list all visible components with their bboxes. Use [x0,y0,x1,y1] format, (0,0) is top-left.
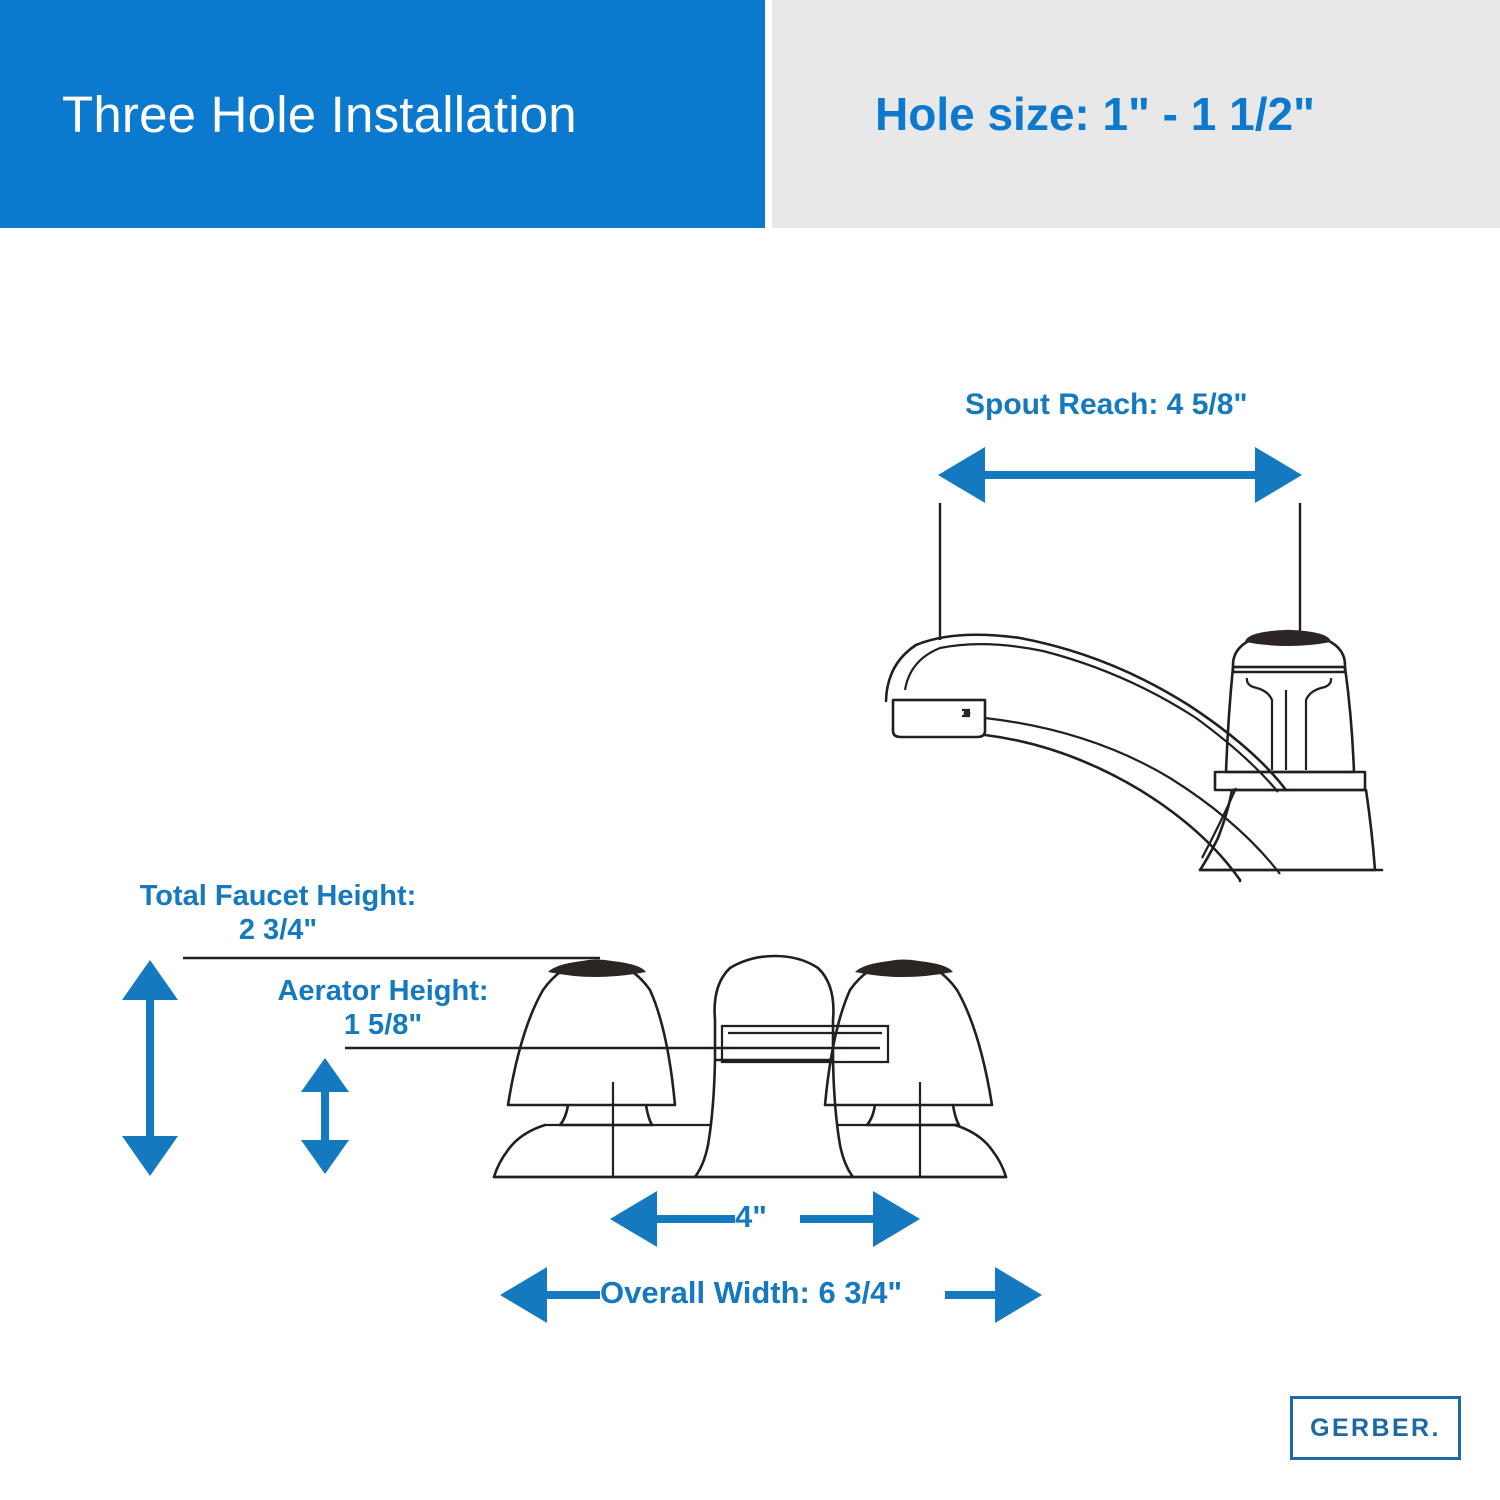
spout-reach-dimension [938,447,1302,640]
faucet-front-view-illustration [494,956,1006,1177]
faucet-side-view-illustration [886,630,1382,881]
gerber-logo-text: GERBER. [1310,1414,1441,1443]
total-faucet-height-dimension [122,958,600,1176]
spec-sheet: Three Hole Installation Hole size: 1" - … [0,0,1500,1500]
gerber-logo: GERBER. [1290,1396,1461,1460]
center-spread-value: 4" [735,1199,767,1235]
overall-width-value: Overall Width: 6 3/4" [600,1275,902,1311]
aerator-height-dimension [301,1048,880,1174]
